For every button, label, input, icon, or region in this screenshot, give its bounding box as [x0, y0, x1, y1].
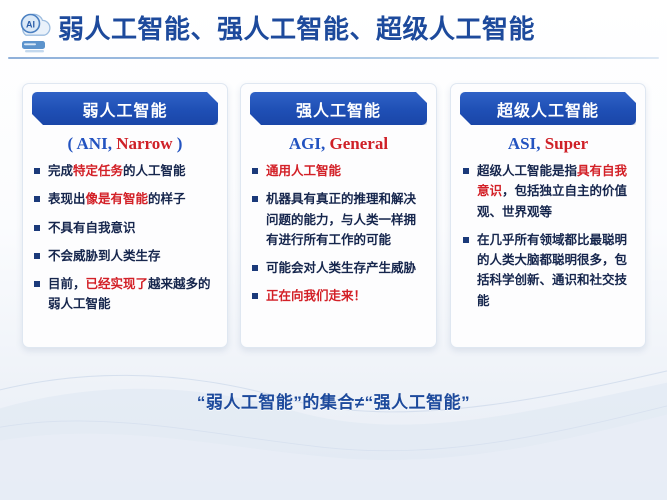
- bullet-item: 目前，已经实现了越来越多的弱人工智能: [33, 274, 219, 315]
- bullet-text-run: 目前，: [48, 277, 86, 291]
- bullet-item: 在几乎所有领域都比最聪明的人类大脑都聪明很多，包括科学创新、通识和社交技能: [462, 230, 639, 311]
- card-strong-ai[interactable]: 强人工智能 AGI, General 通用人工智能机器具有真正的推理和解决问题的…: [240, 83, 437, 348]
- ai-cloud-logo-icon: AI: [12, 7, 58, 55]
- card-subtitle: ( ANI, Narrow ): [23, 134, 227, 154]
- bullet-text-run: 完成: [48, 164, 73, 178]
- bullet-item: 不会威胁到人类生存: [33, 246, 219, 266]
- bullet-item: 可能会对人类生存产生威胁: [251, 258, 428, 278]
- subtitle-run: ASI: [508, 134, 536, 153]
- bullet-text-run: 的人工智能: [123, 164, 186, 178]
- card-bullet-list: 超级人工智能是指具有自我意识，包括独立自主的价值观、世界观等在几乎所有领域都比最…: [462, 161, 639, 319]
- background-wave-decoration: [0, 330, 667, 500]
- card-subtitle: ASI, Super: [451, 134, 645, 154]
- bullet-text-run: 特定任务: [73, 164, 123, 178]
- slide-header: AI 弱人工智能、强人工智能、超级人工智能: [0, 0, 667, 62]
- bullet-item: 机器具有真正的推理和解决问题的能力，与人类一样拥有进行所有工作的可能: [251, 189, 428, 250]
- bullet-text-run: 不会威胁到人类生存: [48, 249, 161, 263]
- subtitle-run: (: [68, 134, 77, 153]
- slide-canvas: AI 弱人工智能、强人工智能、超级人工智能 弱人工智能 ( ANI, Narro…: [0, 0, 667, 500]
- card-super-ai[interactable]: 超级人工智能 ASI, Super 超级人工智能是指具有自我意识，包括独立自主的…: [450, 83, 646, 348]
- card-weak-ai[interactable]: 弱人工智能 ( ANI, Narrow ) 完成特定任务的人工智能表现出像是有智…: [22, 83, 228, 348]
- bullet-text-run: 超级人工智能是指: [477, 164, 577, 178]
- card-subtitle: AGI, General: [241, 134, 436, 154]
- subtitle-run: Narrow: [116, 134, 172, 153]
- bullet-item: 不具有自我意识: [33, 218, 219, 238]
- subtitle-run: ,: [108, 134, 117, 153]
- subtitle-run: ,: [536, 134, 545, 153]
- subtitle-run: General: [330, 134, 389, 153]
- bullet-text-run: 表现出: [48, 192, 86, 206]
- subtitle-run: ): [173, 134, 183, 153]
- page-title: 弱人工智能、强人工智能、超级人工智能: [58, 9, 535, 46]
- bullet-text-run: 在几乎所有领域都比最聪明的人类大脑都聪明很多，包括科学创新、通识和社交技能: [477, 233, 627, 308]
- bullet-text-run: 通用人工智能: [266, 164, 341, 178]
- bullet-item: 表现出像是有智能的样子: [33, 189, 219, 209]
- footer-conclusion-text: “弱人工智能”的集合≠“强人工智能”: [0, 388, 667, 413]
- header-divider: [8, 57, 659, 59]
- subtitle-run: ,: [321, 134, 330, 153]
- bullet-text-run: 的样子: [148, 192, 186, 206]
- bullet-item: 正在向我们走来！: [251, 286, 428, 306]
- subtitle-run: Super: [545, 134, 588, 153]
- bullet-item: 完成特定任务的人工智能: [33, 161, 219, 181]
- concept-cards-row: 弱人工智能 ( ANI, Narrow ) 完成特定任务的人工智能表现出像是有智…: [0, 83, 667, 351]
- bullet-text-run: 可能会对人类生存产生威胁: [266, 261, 416, 275]
- svg-text:AI: AI: [26, 20, 35, 30]
- subtitle-run: ANI: [77, 134, 108, 153]
- bullet-item: 通用人工智能: [251, 161, 428, 181]
- card-heading: 弱人工智能: [32, 92, 218, 125]
- card-bullet-list: 完成特定任务的人工智能表现出像是有智能的样子不具有自我意识不会威胁到人类生存目前…: [33, 161, 219, 323]
- card-heading: 强人工智能: [250, 92, 427, 125]
- bullet-text-run: 不具有自我意识: [48, 221, 136, 235]
- bullet-text-run: 像是有智能: [86, 192, 149, 206]
- card-heading: 超级人工智能: [460, 92, 636, 125]
- card-bullet-list: 通用人工智能机器具有真正的推理和解决问题的能力，与人类一样拥有进行所有工作的可能…: [251, 161, 428, 315]
- bullet-text-run: 正在向我们走来！: [266, 289, 366, 303]
- bullet-text-run: 已经实现了: [86, 277, 149, 291]
- subtitle-run: AGI: [289, 134, 321, 153]
- bullet-item: 超级人工智能是指具有自我意识，包括独立自主的价值观、世界观等: [462, 161, 639, 222]
- bullet-text-run: 机器具有真正的推理和解决问题的能力，与人类一样拥有进行所有工作的可能: [266, 192, 416, 247]
